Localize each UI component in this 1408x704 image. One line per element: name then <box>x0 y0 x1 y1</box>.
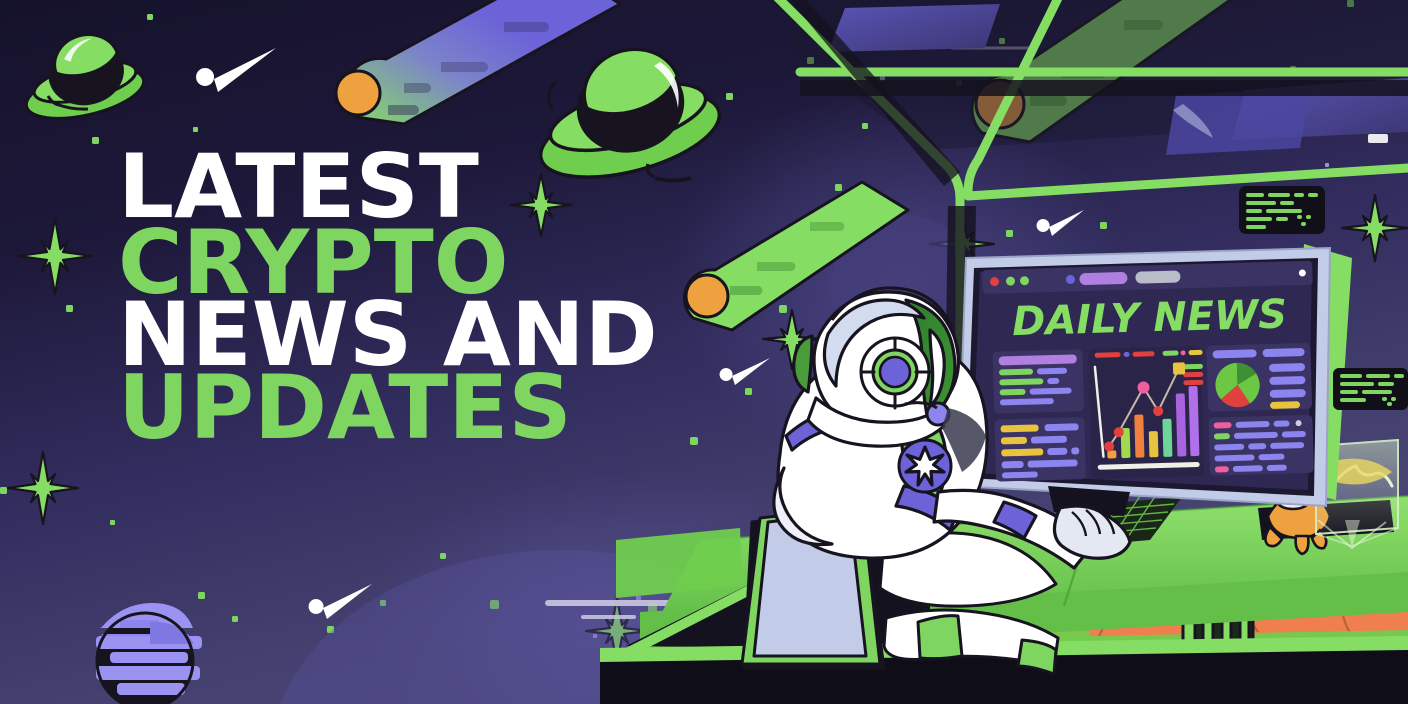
helmet-port <box>861 338 930 408</box>
banner-illustration: DAILY NEWS <box>0 0 1408 704</box>
astronaut-badge <box>899 440 951 492</box>
astronaut-helmet <box>794 288 959 446</box>
headline-block: LATEST CRYPTO NEWS AND UPDATES <box>118 146 658 449</box>
